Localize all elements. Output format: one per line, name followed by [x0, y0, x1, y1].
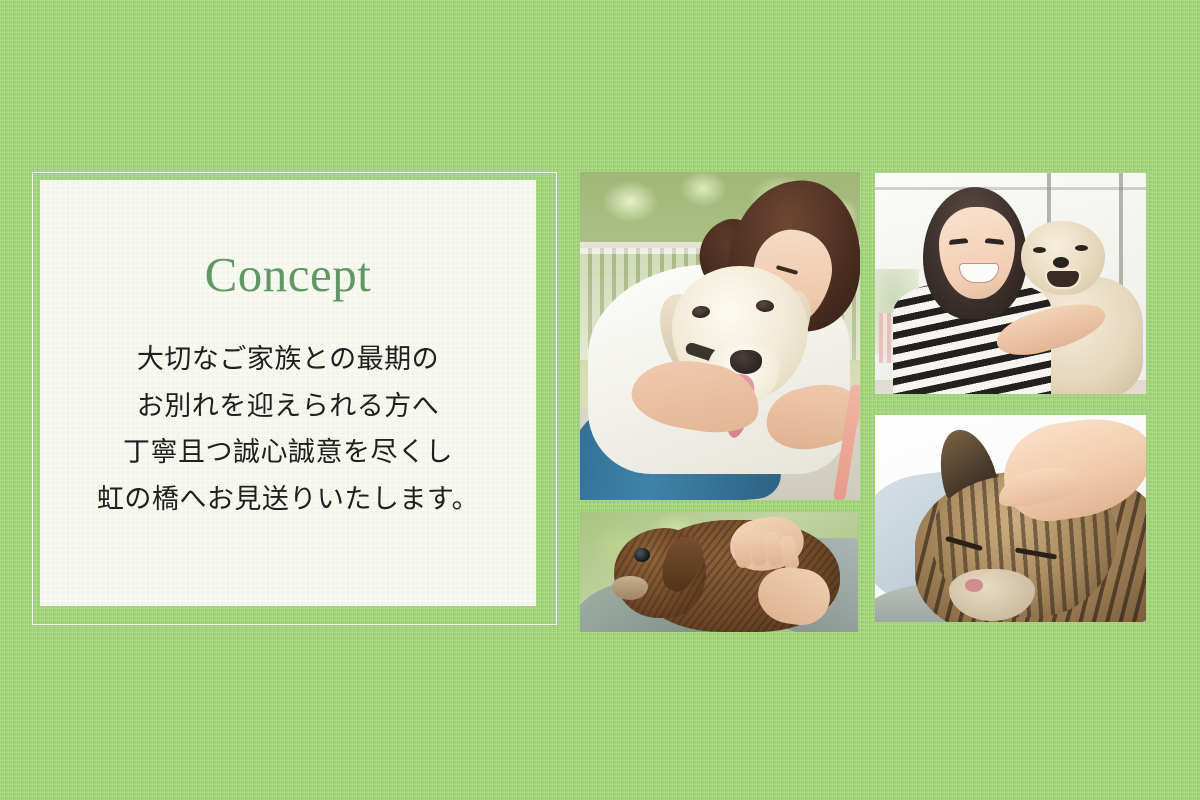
- photo1-dog-nose: [730, 350, 762, 374]
- photo2-window-sill: [875, 187, 1146, 190]
- photo2-dog-eye-right: [1075, 245, 1088, 251]
- photo-woman-hugging-dog: [580, 172, 860, 500]
- concept-card: Concept 大切なご家族との最期の お別れを迎えられる方へ 丁寧且つ誠心誠意…: [40, 180, 536, 606]
- concept-section: Concept 大切なご家族との最期の お別れを迎えられる方へ 丁寧且つ誠心誠意…: [0, 0, 1200, 800]
- photo-woman-with-shih-tzu: [875, 173, 1146, 394]
- photo-rabbit-held: [580, 512, 858, 632]
- photo2-dog-nose: [1053, 257, 1069, 268]
- photo2-dog-eye-left: [1033, 247, 1046, 253]
- photo-cat-petted: [875, 415, 1146, 622]
- concept-body-line-3: 丁寧且つ誠心誠意を尽くし: [97, 430, 479, 477]
- photo4-cat-nose: [965, 579, 983, 592]
- concept-body-line-1: 大切なご家族との最期の: [97, 337, 479, 384]
- photo2-dog-mouth: [1045, 269, 1081, 289]
- page-title: Concept: [205, 250, 372, 299]
- concept-body-text: 大切なご家族との最期の お別れを迎えられる方へ 丁寧且つ誠心誠意を尽くし 虹の橋…: [97, 337, 479, 524]
- concept-body-line-4: 虹の橋へお見送りいたします。: [97, 477, 479, 524]
- concept-body-line-2: お別れを迎えられる方へ: [97, 384, 479, 431]
- photo3-rabbit-eye: [634, 548, 650, 562]
